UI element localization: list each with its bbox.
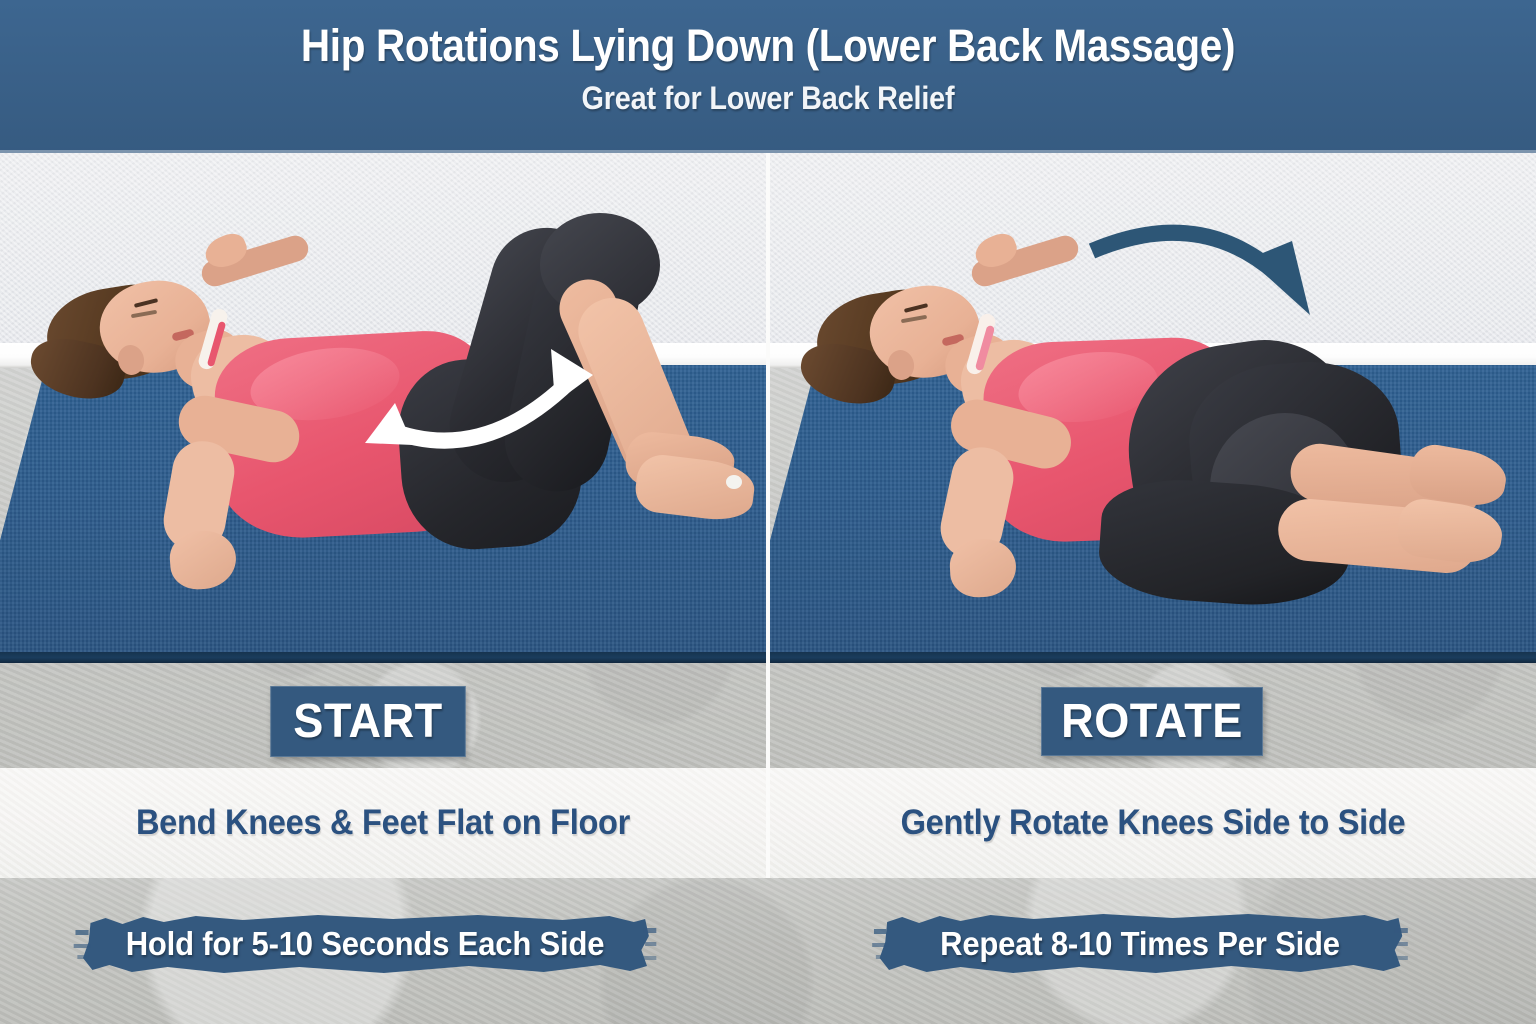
footer-section: Hold for 5-10 Seconds Each Side Repeat 8…	[0, 878, 1536, 1024]
person-figure-rotate	[770, 153, 1536, 768]
foot-near	[633, 452, 757, 524]
step-badge-rotate: ROTATE	[1041, 687, 1263, 756]
person-figure-start	[0, 153, 766, 768]
near-hand	[949, 537, 1018, 598]
header-banner: Hip Rotations Lying Down (Lower Back Mas…	[0, 0, 1536, 153]
panel-divider	[766, 153, 770, 878]
page-title: Hip Rotations Lying Down (Lower Back Mas…	[77, 0, 1459, 71]
step-badge-label: ROTATE	[1061, 694, 1243, 749]
exercise-infographic: Hip Rotations Lying Down (Lower Back Mas…	[0, 0, 1536, 1024]
caption-rotate: Gently Rotate Knees Side to Side	[797, 768, 1509, 878]
panel-rotate: ROTATE	[770, 153, 1536, 768]
near-hand	[168, 529, 238, 591]
footer-banner-hold-time: Hold for 5-10 Seconds Each Side	[74, 910, 657, 978]
step-badge-label: START	[293, 694, 442, 749]
step-badge-start: START	[270, 686, 466, 757]
footer-banner-label: Hold for 5-10 Seconds Each Side	[126, 925, 605, 963]
caption-start: Bend Knees & Feet Flat on Floor	[27, 768, 739, 878]
floor-marker-dot	[726, 475, 742, 489]
panel-start: START	[0, 153, 766, 768]
page-subtitle: Great for Lower Back Relief	[77, 71, 1459, 117]
footer-banner-repetitions: Repeat 8-10 Times Per Side	[872, 910, 1408, 978]
footer-banner-label: Repeat 8-10 Times Per Side	[940, 925, 1340, 963]
